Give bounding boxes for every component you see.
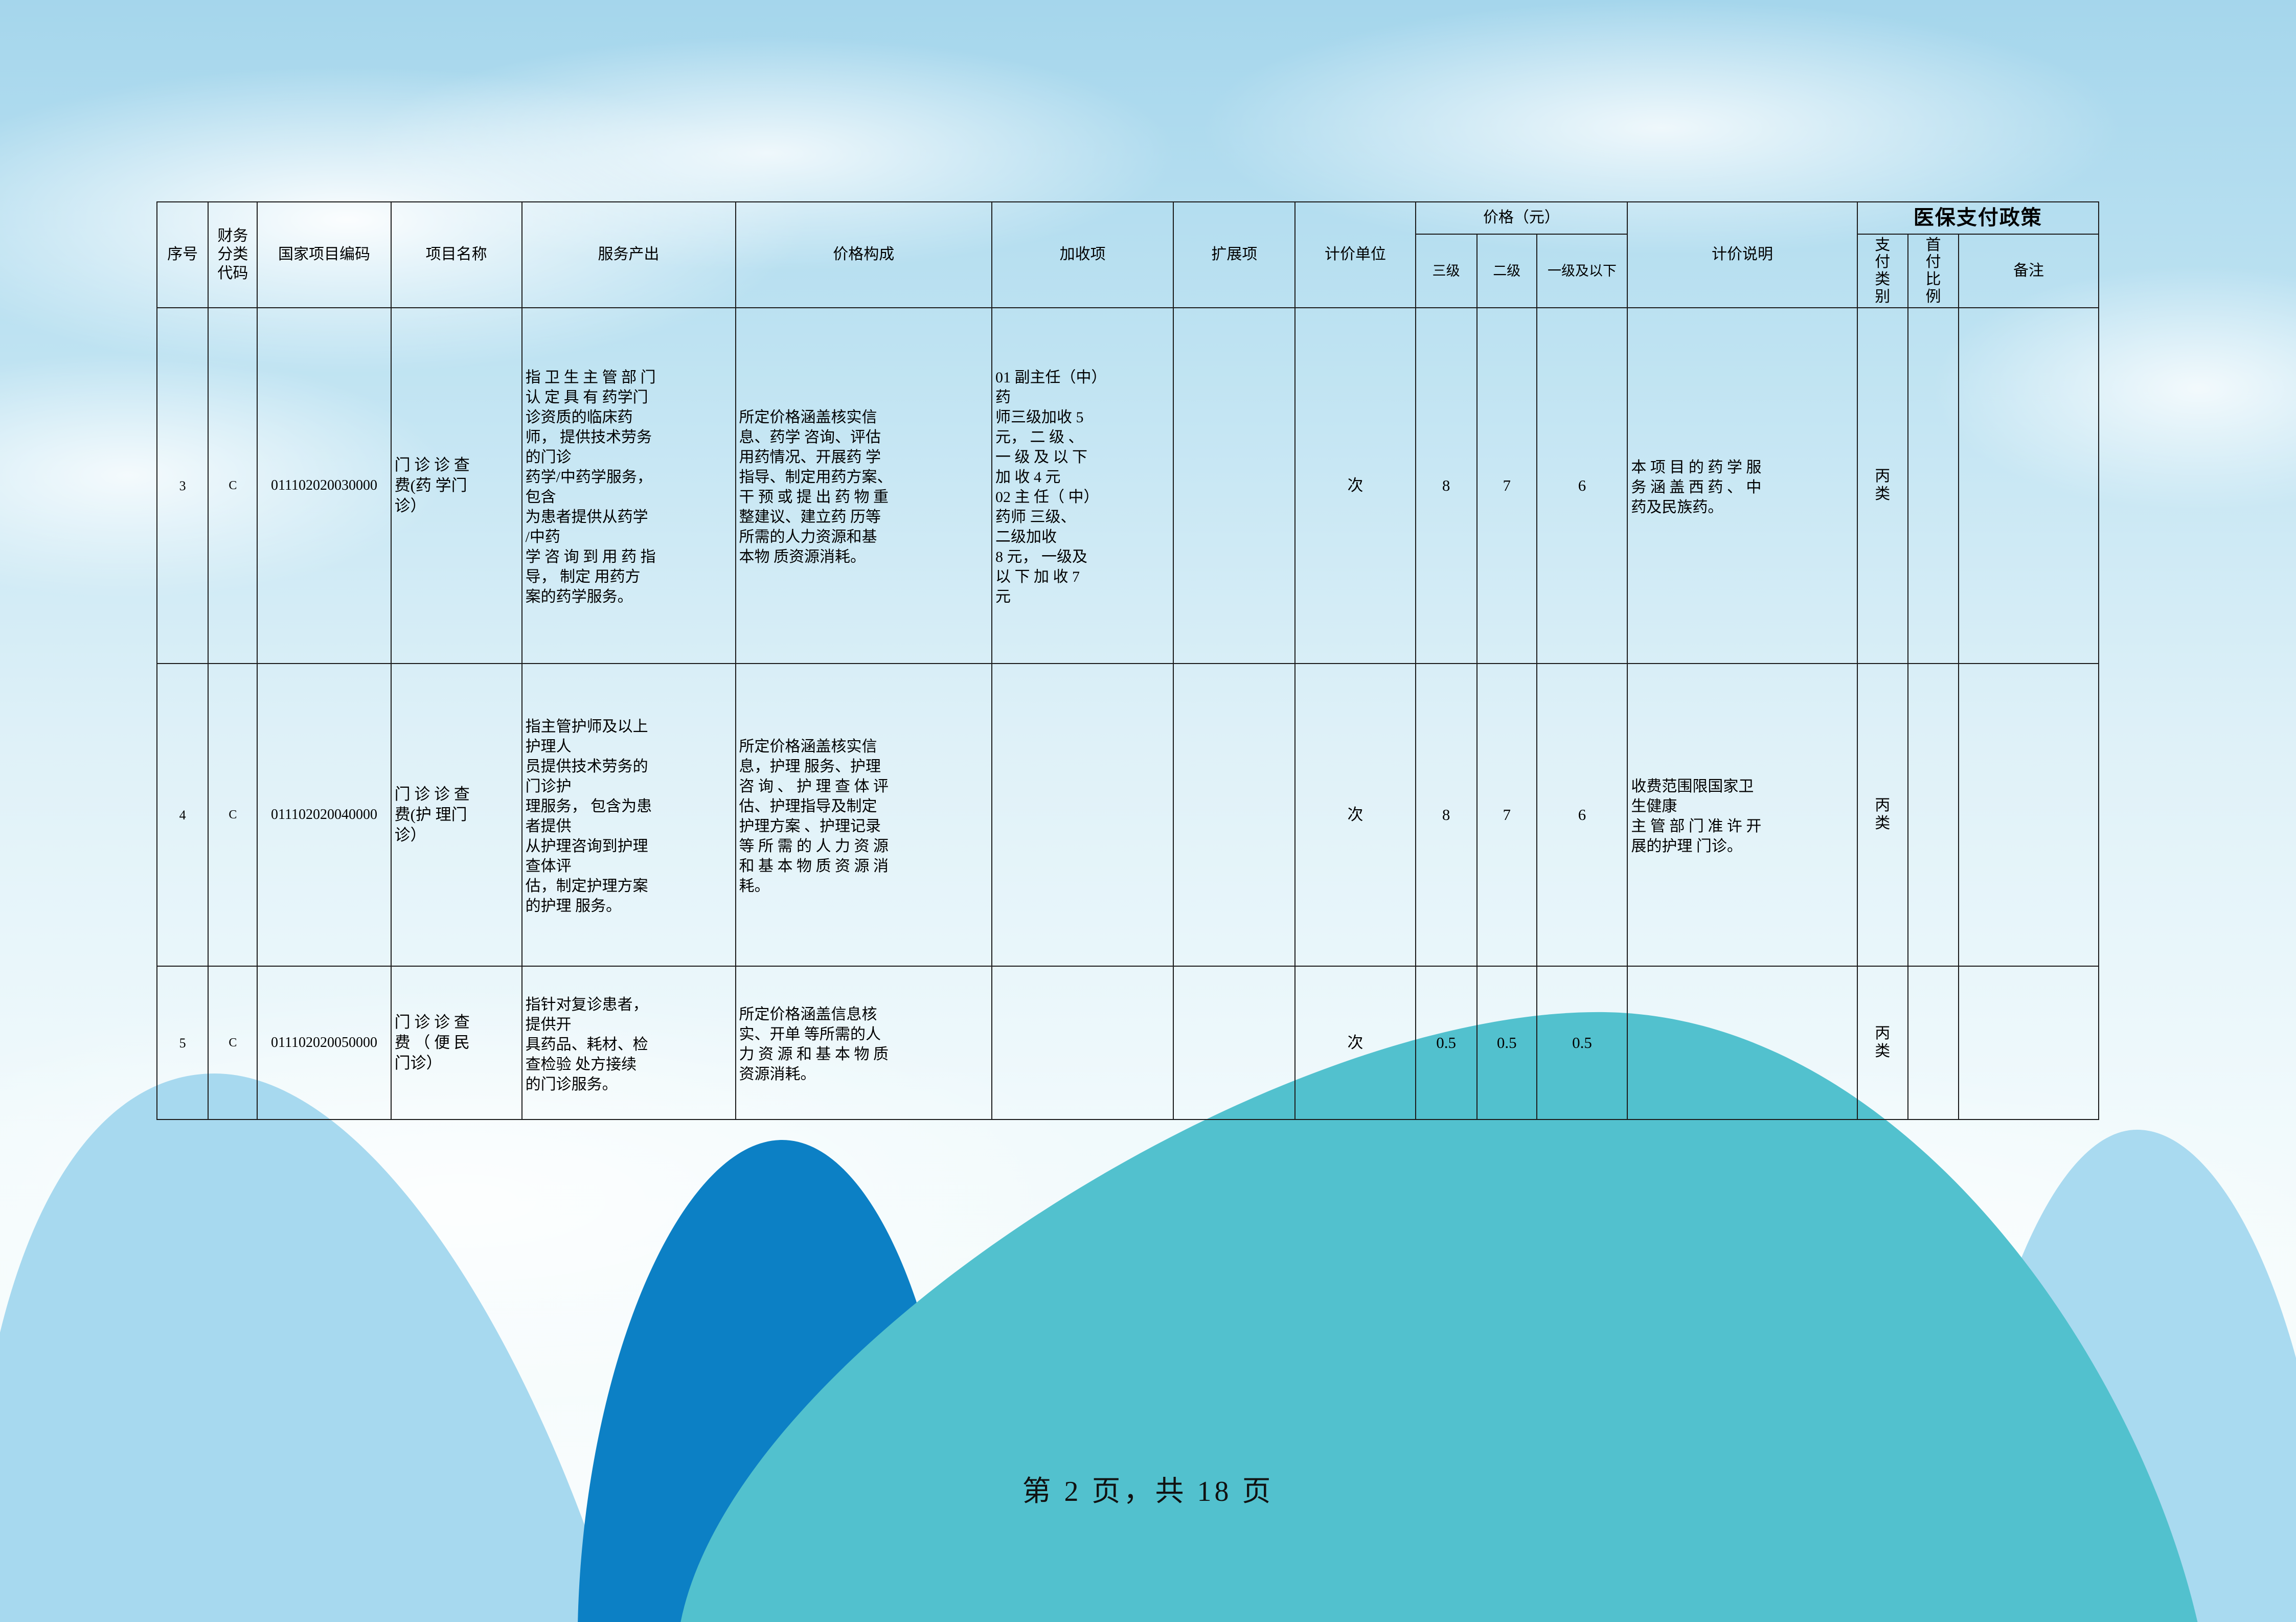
cell-first-pay-ratio xyxy=(1908,966,1959,1120)
cell-item-name: 门 诊 诊 查 费(药 学门 诊） xyxy=(391,308,522,664)
cell-extension xyxy=(1173,966,1295,1120)
cell-price-composition: 所定价格涵盖核实信 息、药学 咨询、评估 用药情况、开展药 学 指导、制定用药方… xyxy=(736,308,992,664)
cell-national-code: 011102020040000 xyxy=(257,664,391,966)
cell-seq: 5 xyxy=(157,966,208,1120)
table-body: 3 C 011102020030000 门 诊 诊 查 费(药 学门 诊） 指 … xyxy=(157,308,2099,1120)
cell-seq: 4 xyxy=(157,664,208,966)
col-header-national-code: 国家项目编码 xyxy=(257,202,391,308)
cell-finance-code: C xyxy=(208,664,257,966)
col-header-item-name: 项目名称 xyxy=(391,202,522,308)
col-header-remark: 备注 xyxy=(1959,234,2099,308)
pay-category-value: 丙类 xyxy=(1874,797,1891,832)
cell-price-level1: 6 xyxy=(1537,664,1628,966)
cell-price-level3: 8 xyxy=(1416,308,1477,664)
cell-pricing-unit: 次 xyxy=(1295,664,1415,966)
col-header-pricing-unit: 计价单位 xyxy=(1295,202,1415,308)
col-header-price-composition: 价格构成 xyxy=(736,202,992,308)
cell-pricing-unit: 次 xyxy=(1295,308,1415,664)
cell-surcharge xyxy=(992,664,1173,966)
cell-price-level3: 8 xyxy=(1416,664,1477,966)
table-row: 4 C 011102020040000 门 诊 诊 查 费(护 理门 诊） 指主… xyxy=(157,664,2099,966)
pay-category-value: 丙类 xyxy=(1874,468,1891,503)
col-header-pay-category: 支付类别 xyxy=(1857,234,1908,308)
table-row: 3 C 011102020030000 门 诊 诊 查 费(药 学门 诊） 指 … xyxy=(157,308,2099,664)
cell-item-name: 门 诊 诊 查 费(护 理门 诊） xyxy=(391,664,522,966)
col-header-surcharge: 加收项 xyxy=(992,202,1173,308)
col-header-pricing-note: 计价说明 xyxy=(1627,202,1857,308)
cell-service-output: 指 卫 生 主 管 部 门 认 定 具 有 药学门 诊资质的临床药 师， 提供技… xyxy=(522,308,736,664)
col-header-price-group: 价格（元） xyxy=(1416,202,1628,234)
col-header-price-level2: 二级 xyxy=(1477,234,1537,308)
cell-price-level1: 0.5 xyxy=(1537,966,1628,1120)
cell-first-pay-ratio xyxy=(1908,308,1959,664)
cell-pricing-note: 本 项 目 的 药 学 服 务 涵 盖 西 药 、 中 药及民族药。 xyxy=(1627,308,1857,664)
cell-remark xyxy=(1959,664,2099,966)
cell-surcharge xyxy=(992,966,1173,1120)
cell-national-code: 011102020050000 xyxy=(257,966,391,1120)
medical-price-table: 序号 财务分类代码 国家项目编码 项目名称 服务产出 价格构成 加收项 扩展项 … xyxy=(156,201,2099,1120)
cell-first-pay-ratio xyxy=(1908,664,1959,966)
cell-price-composition: 所定价格涵盖信息核 实、开单 等所需的人 力 资 源 和 基 本 物 质 资源消… xyxy=(736,966,992,1120)
cell-price-level2: 7 xyxy=(1477,308,1537,664)
cell-service-output: 指针对复诊患者， 提供开 具药品、耗材、检 查检验 处方接续 的门诊服务。 xyxy=(522,966,736,1120)
cell-finance-code: C xyxy=(208,308,257,664)
pay-category-label: 支付类别 xyxy=(1875,237,1890,305)
col-header-price-level1: 一级及以下 xyxy=(1537,234,1628,308)
cell-remark xyxy=(1959,308,2099,664)
col-header-extension: 扩展项 xyxy=(1173,202,1295,308)
document-page: 序号 财务分类代码 国家项目编码 项目名称 服务产出 价格构成 加收项 扩展项 … xyxy=(0,0,2296,1622)
cell-service-output: 指主管护师及以上 护理人 员提供技术劳务的 门诊护 理服务， 包含为患 者提供 … xyxy=(522,664,736,966)
page-number-footer: 第 2 页，共 18 页 xyxy=(0,1468,2296,1510)
col-header-service-output: 服务产出 xyxy=(522,202,736,308)
cell-extension xyxy=(1173,308,1295,664)
pay-category-value: 丙类 xyxy=(1874,1025,1891,1060)
cell-pay-category: 丙类 xyxy=(1857,308,1908,664)
cell-pay-category: 丙类 xyxy=(1857,664,1908,966)
cell-price-level2: 0.5 xyxy=(1477,966,1537,1120)
cell-price-level1: 6 xyxy=(1537,308,1628,664)
cell-pay-category: 丙类 xyxy=(1857,966,1908,1120)
header-row-top: 序号 财务分类代码 国家项目编码 项目名称 服务产出 价格构成 加收项 扩展项 … xyxy=(157,202,2099,234)
cell-finance-code: C xyxy=(208,966,257,1120)
table-row: 5 C 011102020050000 门 诊 诊 查 费 （ 便 民 门诊） … xyxy=(157,966,2099,1120)
cell-pricing-note: 收费范围限国家卫 生健康 主 管 部 门 准 许 开 展的护理 门诊。 xyxy=(1627,664,1857,966)
cell-price-level2: 7 xyxy=(1477,664,1537,966)
cell-seq: 3 xyxy=(157,308,208,664)
cell-extension xyxy=(1173,664,1295,966)
cell-national-code: 011102020030000 xyxy=(257,308,391,664)
first-pay-ratio-label: 首付比例 xyxy=(1925,237,1941,305)
col-header-price-level3: 三级 xyxy=(1416,234,1477,308)
cell-price-level3: 0.5 xyxy=(1416,966,1477,1120)
col-header-finance-code: 财务分类代码 xyxy=(208,202,257,308)
col-header-seq: 序号 xyxy=(157,202,208,308)
cell-remark xyxy=(1959,966,2099,1120)
col-header-insurance-group: 医保支付政策 xyxy=(1857,202,2099,234)
cell-pricing-unit: 次 xyxy=(1295,966,1415,1120)
cell-surcharge: 01 副主任（中） 药 师三级加收 5 元， 二 级 、 一 级 及 以 下 加… xyxy=(992,308,1173,664)
cell-pricing-note xyxy=(1627,966,1857,1120)
cell-price-composition: 所定价格涵盖核实信 息，护理 服务、护理 咨 询 、 护 理 查 体 评 估、护… xyxy=(736,664,992,966)
col-header-first-pay-ratio: 首付比例 xyxy=(1908,234,1959,308)
cell-item-name: 门 诊 诊 查 费 （ 便 民 门诊） xyxy=(391,966,522,1120)
table-head: 序号 财务分类代码 国家项目编码 项目名称 服务产出 价格构成 加收项 扩展项 … xyxy=(157,202,2099,308)
